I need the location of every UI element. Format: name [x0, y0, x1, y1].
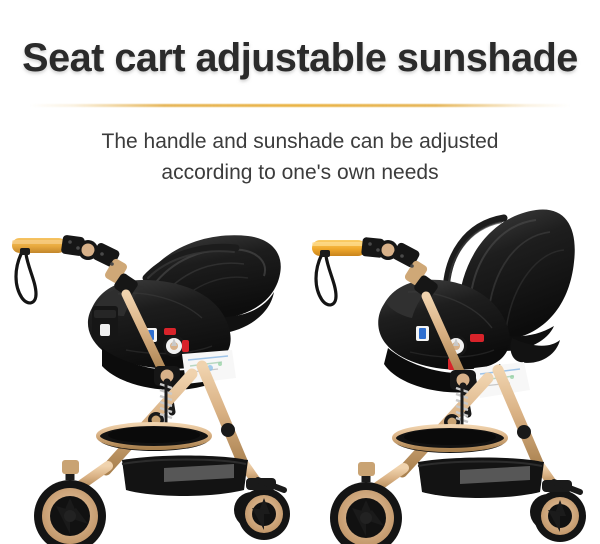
product-banner: Seat cart adjustable sunshade The handle… — [0, 0, 600, 544]
banner-header: Seat cart adjustable sunshade The handle… — [0, 0, 600, 200]
footrest-tray — [98, 424, 210, 451]
storage-basket — [122, 456, 248, 497]
footrest-tray — [394, 426, 506, 453]
storage-basket — [418, 458, 544, 499]
red-buckle — [470, 334, 484, 342]
stroller-image-upright: Baby stroller with car seat carrycot upr… — [298, 198, 598, 544]
red-buckle — [164, 328, 176, 335]
subtitle-line-2: according to one's own needs — [0, 157, 600, 188]
stroller-image-reclined: Baby stroller with car seat carrycot rec… — [0, 198, 296, 544]
subtitle-line-1: The handle and sunshade can be adjusted — [102, 130, 499, 153]
cup-holder — [92, 306, 118, 340]
page-subtitle: The handle and sunshade can be adjusted … — [0, 126, 600, 188]
page-title: Seat cart adjustable sunshade — [3, 36, 597, 81]
gold-divider — [30, 104, 570, 107]
product-images: Baby stroller with car seat carrycot rec… — [0, 198, 600, 544]
